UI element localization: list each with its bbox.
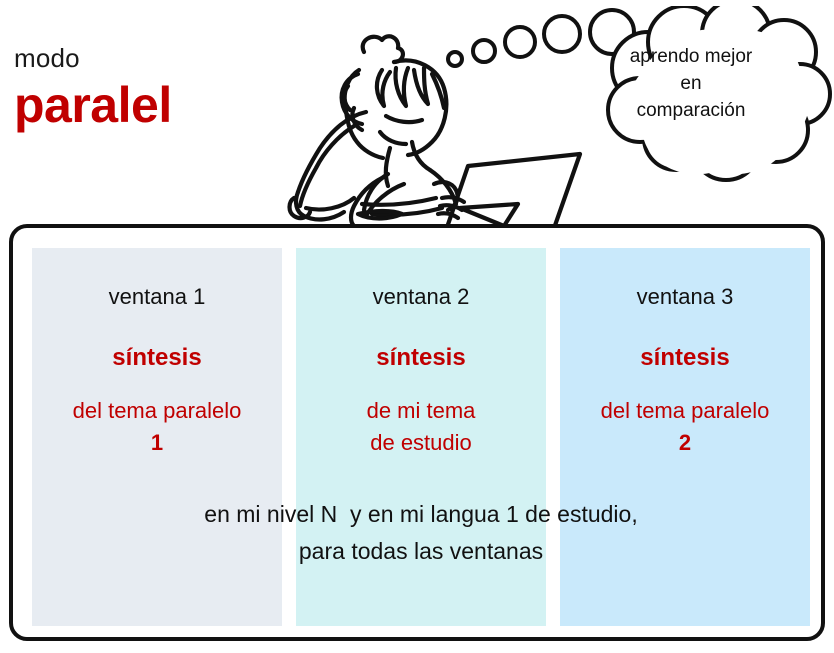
window-label-1: ventana 1 (32, 284, 282, 310)
window-detail-1-line1: del tema paralelo (73, 398, 242, 423)
window-detail-3-line1: del tema paralelo (601, 398, 770, 423)
thought-line-3: comparación (592, 98, 790, 125)
window-synthesis-2: síntesis (296, 344, 546, 373)
window-detail-1: del tema paralelo 1 (32, 395, 282, 459)
window-detail-2-line1: de mi tema (367, 398, 476, 423)
thought-line-1: aprendo mejor (592, 44, 790, 71)
window-detail-2-line2: de estudio (370, 430, 472, 455)
caption-block: en mi nivel N y en mi langua 1 de estudi… (32, 496, 810, 571)
thought-line-2: en (592, 71, 790, 98)
window-synthesis-3: síntesis (560, 344, 810, 373)
window-synthesis-1: síntesis (32, 344, 282, 373)
windows-container: ventana 1 síntesis del tema paralelo 1 v… (9, 224, 825, 641)
window-detail-2: de mi tema de estudio (296, 395, 546, 459)
window-detail-3-line2: 2 (679, 430, 691, 455)
window-detail-1-line2: 1 (151, 430, 163, 455)
window-label-2: ventana 2 (296, 284, 546, 310)
thought-bubble-text: aprendo mejor en comparación (592, 44, 790, 125)
window-detail-3: del tema paralelo 2 (560, 395, 810, 459)
slide-canvas: modo paralel (0, 0, 834, 653)
window-label-3: ventana 3 (560, 284, 810, 310)
caption-line-1: en mi nivel N y en mi langua 1 de estudi… (32, 496, 810, 533)
caption-line-2: para todas las ventanas (32, 533, 810, 570)
